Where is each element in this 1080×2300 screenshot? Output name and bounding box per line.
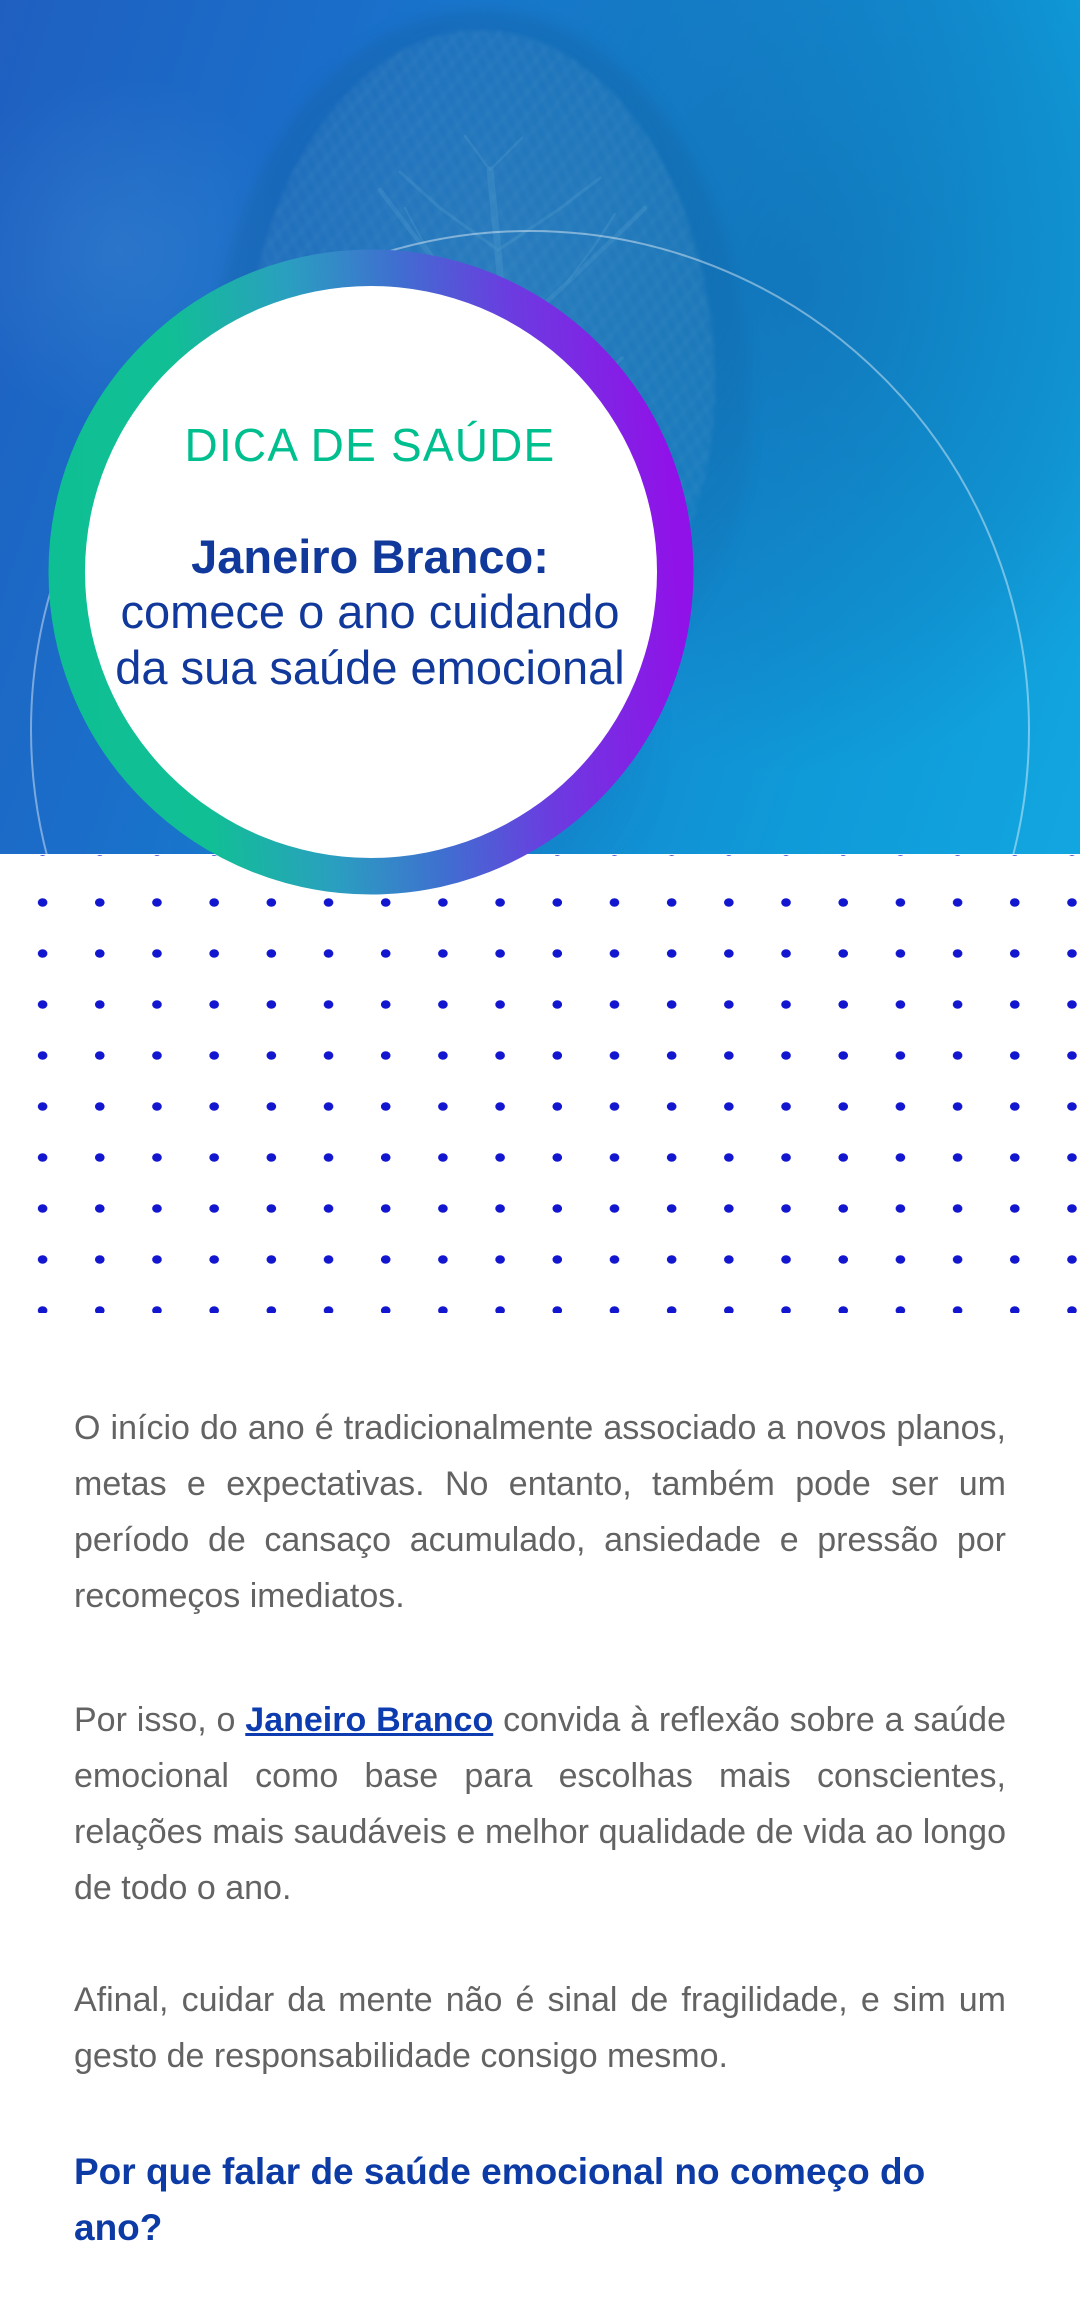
paragraph-2-before: Por isso, o (74, 1701, 245, 1739)
dot-pattern-background (0, 855, 1080, 1313)
paragraph-2: Por isso, o Janeiro Branco convida à ref… (74, 1692, 1006, 1916)
badge-title: Janeiro Branco: comece o ano cuidando da… (110, 529, 630, 695)
badge-text-block: DICA DE SAÚDE Janeiro Branco: comece o a… (110, 420, 630, 695)
page-root: DICA DE SAÚDE Janeiro Branco: comece o a… (0, 0, 1080, 2300)
eyebrow-label: DICA DE SAÚDE (110, 420, 630, 471)
paragraph-3: Afinal, cuidar da mente não é sinal de f… (74, 1972, 1006, 2084)
janeiro-branco-link[interactable]: Janeiro Branco (245, 1701, 493, 1739)
paragraph-1: O início do ano é tradicionalmente assoc… (74, 1400, 1006, 1624)
section-subheading: Por que falar de saúde emocional no come… (74, 2144, 1006, 2256)
badge-title-rest: comece o ano cuidando da sua saúde emoci… (115, 585, 625, 693)
badge-title-bold: Janeiro Branco: (191, 530, 549, 583)
